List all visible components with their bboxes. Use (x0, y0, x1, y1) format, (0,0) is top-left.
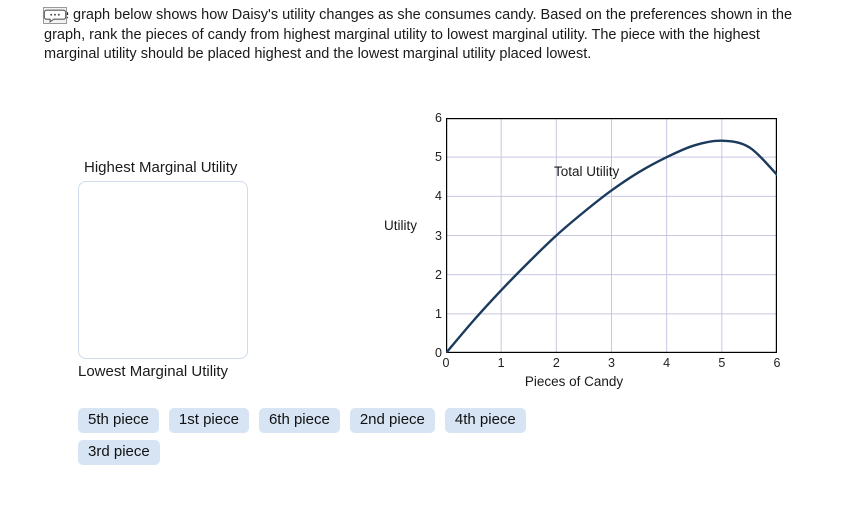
highest-marginal-utility-label: Highest Marginal Utility (84, 158, 250, 178)
speech-bubble-icon (43, 7, 67, 24)
chart-x-tick: 0 (436, 356, 456, 370)
chart-y-tick: 2 (420, 268, 442, 282)
chart-y-tick: 3 (420, 229, 442, 243)
chart-plot-area (446, 118, 777, 353)
total-utility-annotation: Total Utility (554, 164, 619, 179)
draggable-chip[interactable]: 1st piece (169, 408, 249, 433)
draggable-chip[interactable]: 6th piece (259, 408, 340, 433)
chart-x-tick-labels: 0123456 (446, 356, 777, 374)
chart-y-tick: 5 (420, 150, 442, 164)
chart-y-tick: 1 (420, 307, 442, 321)
draggable-chip[interactable]: 5th piece (78, 408, 159, 433)
lowest-marginal-utility-label: Lowest Marginal Utility (78, 362, 250, 382)
draggable-chip-tray: 5th piece1st piece6th piece2nd piece4th … (78, 408, 598, 465)
chart-x-tick: 2 (546, 356, 566, 370)
chart-x-tick: 3 (602, 356, 622, 370)
chart-gridlines (446, 118, 777, 353)
draggable-chip[interactable]: 4th piece (445, 408, 526, 433)
total-utility-chart: Utility Pieces of Candy 0123456 0123456 … (370, 108, 790, 393)
chart-x-tick: 5 (712, 356, 732, 370)
question-prompt: The graph below shows how Daisy's utilit… (44, 6, 804, 65)
chart-x-tick: 1 (491, 356, 511, 370)
chart-x-tick: 6 (767, 356, 787, 370)
chart-x-tick: 4 (657, 356, 677, 370)
chart-y-tick-labels: 0123456 (420, 108, 442, 393)
draggable-chip[interactable]: 3rd piece (78, 440, 160, 465)
ranking-panel: Highest Marginal Utility Lowest Marginal… (78, 158, 250, 382)
draggable-chip[interactable]: 2nd piece (350, 408, 435, 433)
chart-y-axis-label: Utility (384, 218, 417, 233)
chart-y-tick: 4 (420, 189, 442, 203)
ranking-dropzone[interactable] (78, 181, 248, 359)
chart-y-tick: 6 (420, 111, 442, 125)
